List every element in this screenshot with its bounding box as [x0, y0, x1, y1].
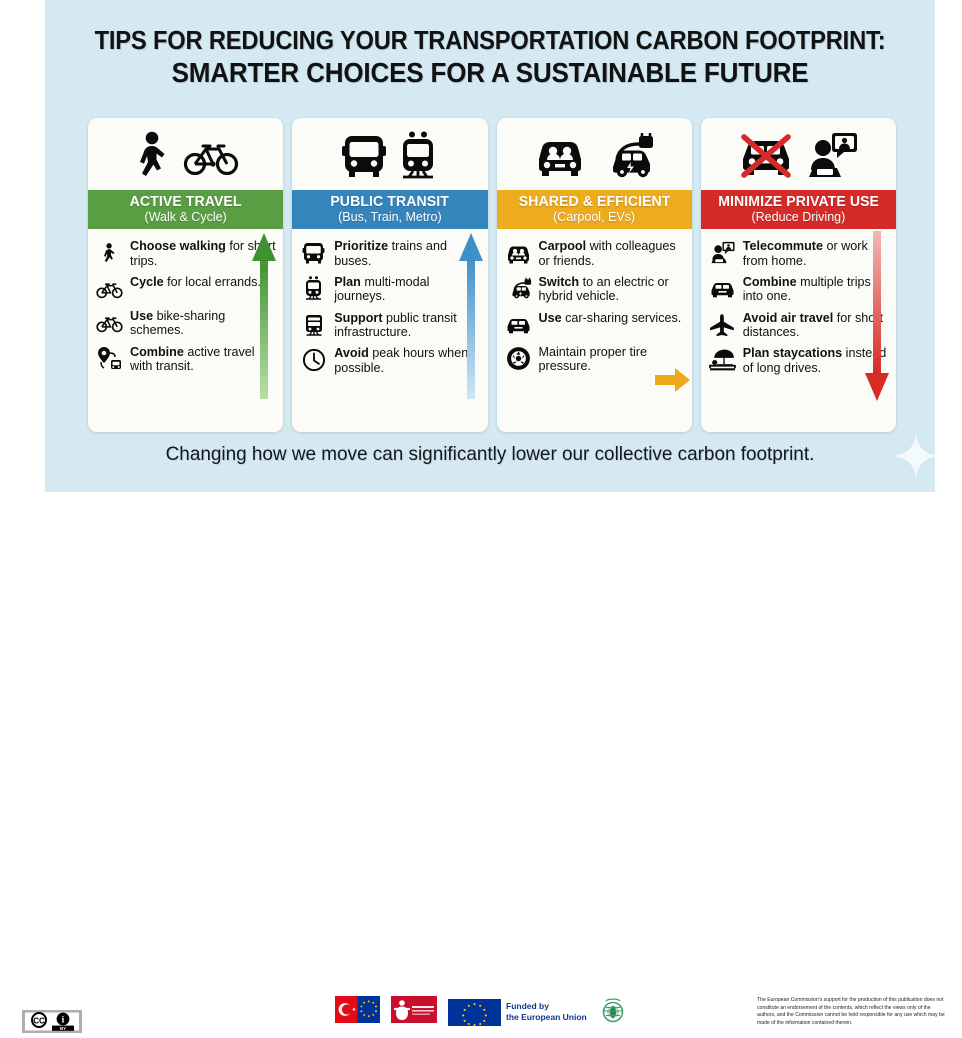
car-crossed-out-icon [738, 133, 794, 179]
column-header-icons [701, 118, 896, 190]
title-line-1: TIPS FOR REDUCING YOUR TRANSPORTATION CA… [76, 26, 904, 56]
tire-wheel-icon [505, 346, 532, 372]
project-green-logo [598, 996, 628, 1029]
clock-icon [300, 347, 327, 373]
tip-item: Telecommute or work from home. [709, 239, 890, 268]
column-header-icons [497, 118, 692, 190]
funded-by-eu-text: Funded by the European Union [506, 1001, 587, 1022]
walking-person-icon [133, 131, 173, 181]
band-subtitle: (Carpool, EVs) [499, 210, 690, 224]
car-side-icon [709, 276, 736, 302]
band-subtitle: (Reduce Driving) [703, 210, 894, 224]
eu-disclaimer: The European Commission's support for th… [757, 997, 947, 1028]
tip-bold: Switch [539, 275, 580, 289]
tip-text: Choose walking for short trips. [130, 239, 277, 268]
column-public-transit: PUBLIC TRANSIT (Bus, Train, Metro) [292, 118, 487, 432]
turkey-eu-flag-logo [335, 996, 380, 1028]
tip-item: Combine active travel with transit. [96, 345, 277, 374]
tip-bold: Plan [334, 275, 361, 289]
tips-list-active-travel: Choose walking for short trips. Cycle fo… [88, 229, 283, 432]
tip-item: Carpool with colleagues or friends. [505, 239, 686, 268]
band-minimize-private-use: MINIMIZE PRIVATE USE (Reduce Driving) [701, 190, 896, 229]
funded-line-2: the European Union [506, 1012, 587, 1022]
funding-logos: Funded by the European Union [335, 997, 628, 1027]
bicycle-icon [183, 136, 239, 176]
tip-item: Choose walking for short trips. [96, 239, 277, 268]
tip-text: Plan multi-modal journeys. [334, 275, 481, 304]
tip-item: Prioritize trains and buses. [300, 239, 481, 268]
column-shared-efficient: SHARED & EFFICIENT (Carpool, EVs) [497, 118, 692, 432]
tip-bold: Use [539, 311, 562, 325]
carpool-car-icon [533, 135, 587, 177]
airplane-icon [709, 312, 736, 338]
tip-rest: for local errands. [164, 275, 261, 289]
tip-item: Avoid air travel for short distances. [709, 311, 890, 340]
tip-text: Support public transit infrastructure. [334, 311, 481, 340]
tip-rest: Maintain proper tire pressure. [539, 345, 648, 373]
tip-text: Avoid air travel for short distances. [743, 311, 890, 340]
telecommute-laptop-icon [709, 240, 736, 266]
infographic-panel: TIPS FOR REDUCING YOUR TRANSPORTATION CA… [45, 0, 935, 492]
tip-item: Use car-sharing services. [505, 311, 686, 338]
tip-item: Use bike-sharing schemes. [96, 309, 277, 338]
tip-bold: Plan staycations [743, 346, 842, 360]
tips-list-shared-efficient: Carpool with colleagues or friends. [497, 229, 692, 432]
tip-item: Combine multiple trips into one. [709, 275, 890, 304]
tip-text: Combine multiple trips into one. [743, 275, 890, 304]
walking-person-icon [96, 240, 123, 266]
tip-text: Maintain proper tire pressure. [539, 345, 686, 374]
tip-text: Switch to an electric or hybrid vehicle. [539, 275, 686, 304]
car-side-icon [505, 312, 532, 338]
tip-text: Telecommute or work from home. [743, 239, 890, 268]
tram-front-icon [397, 131, 439, 181]
tip-text: Prioritize trains and buses. [334, 239, 481, 268]
band-title: MINIMIZE PRIVATE USE [706, 194, 892, 210]
tips-list-public-transit: Prioritize trains and buses. [292, 229, 487, 432]
tip-item: Support public transit infrastructure. [300, 311, 481, 340]
tip-bold: Support [334, 311, 382, 325]
tip-bold: Telecommute [743, 239, 823, 253]
tip-item: Switch to an electric or hybrid vehicle. [505, 275, 686, 304]
column-minimize-private-use: MINIMIZE PRIVATE USE (Reduce Driving) [701, 118, 896, 432]
bicycle-icon [96, 276, 123, 302]
tip-rest: car-sharing services. [562, 311, 682, 325]
footer: CC i BY [0, 492, 962, 550]
tagline: Changing how we move can significantly l… [58, 443, 921, 466]
bus-front-icon [300, 240, 327, 266]
svg-text:i: i [62, 1016, 65, 1026]
tip-text: Combine active travel with transit. [130, 345, 277, 374]
tip-bold: Prioritize [334, 239, 388, 253]
tip-bold: Carpool [539, 239, 587, 253]
band-title: SHARED & EFFICIENT [501, 194, 687, 210]
telecommute-laptop-icon [804, 132, 858, 180]
tip-bold: Choose walking [130, 239, 226, 253]
band-title: PUBLIC TRANSIT [297, 194, 483, 210]
tram-front-icon [300, 276, 327, 302]
bicycle-icon [96, 310, 123, 336]
tip-bold: Avoid [334, 346, 369, 360]
tip-bold: Avoid air travel [743, 311, 834, 325]
electric-car-plug-icon [597, 133, 655, 179]
tip-text: Plan staycations instead of long drives. [743, 346, 890, 375]
electric-car-plug-icon [505, 276, 532, 302]
tips-columns: ACTIVE TRAVEL (Walk & Cycle) [88, 118, 896, 432]
tip-item: Plan staycations instead of long drives. [709, 346, 890, 375]
tip-text: Avoid peak hours when possible. [334, 346, 481, 375]
tips-list-minimize-private-use: Telecommute or work from home. Co [701, 229, 896, 432]
tip-text: Carpool with colleagues or friends. [539, 239, 686, 268]
column-header-icons [292, 118, 487, 190]
column-header-icons [88, 118, 283, 190]
tip-bold: Cycle [130, 275, 164, 289]
tip-bold: Combine [743, 275, 797, 289]
tip-item: Plan multi-modal journeys. [300, 275, 481, 304]
band-shared-efficient: SHARED & EFFICIENT (Carpool, EVs) [497, 190, 692, 229]
tip-bold: Combine [130, 345, 184, 359]
band-active-travel: ACTIVE TRAVEL (Walk & Cycle) [88, 190, 283, 229]
funded-by-eu-logo: Funded by the European Union [448, 999, 587, 1026]
band-subtitle: (Walk & Cycle) [90, 210, 281, 224]
band-subtitle: (Bus, Train, Metro) [294, 210, 485, 224]
tip-item: Maintain proper tire pressure. [505, 345, 686, 374]
turkish-national-agency-logo [391, 996, 437, 1028]
tip-item: Avoid peak hours when possible. [300, 346, 481, 375]
band-public-transit: PUBLIC TRANSIT (Bus, Train, Metro) [292, 190, 487, 229]
location-pin-bus-icon [96, 346, 123, 372]
band-title: ACTIVE TRAVEL [93, 194, 279, 210]
bus-front-icon [341, 132, 387, 180]
cc-label: CC [33, 1017, 45, 1026]
tip-text: Use bike-sharing schemes. [130, 309, 277, 338]
beach-bed-umbrella-icon [709, 347, 736, 373]
page-title: TIPS FOR REDUCING YOUR TRANSPORTATION CA… [45, 26, 935, 89]
creative-commons-by-badge: CC i BY [22, 1010, 82, 1033]
carpool-car-icon [505, 240, 532, 266]
funded-line-1: Funded by [506, 1001, 549, 1011]
tip-bold: Use [130, 309, 153, 323]
tip-text: Use car-sharing services. [539, 311, 682, 325]
title-line-2: SMARTER CHOICES FOR A SUSTAINABLE FUTURE [76, 56, 904, 89]
by-label: BY [60, 1026, 66, 1031]
column-active-travel: ACTIVE TRAVEL (Walk & Cycle) [88, 118, 283, 432]
train-front-icon [300, 312, 327, 338]
tip-text: Cycle for local errands. [130, 275, 261, 289]
tip-item: Cycle for local errands. [96, 275, 277, 302]
